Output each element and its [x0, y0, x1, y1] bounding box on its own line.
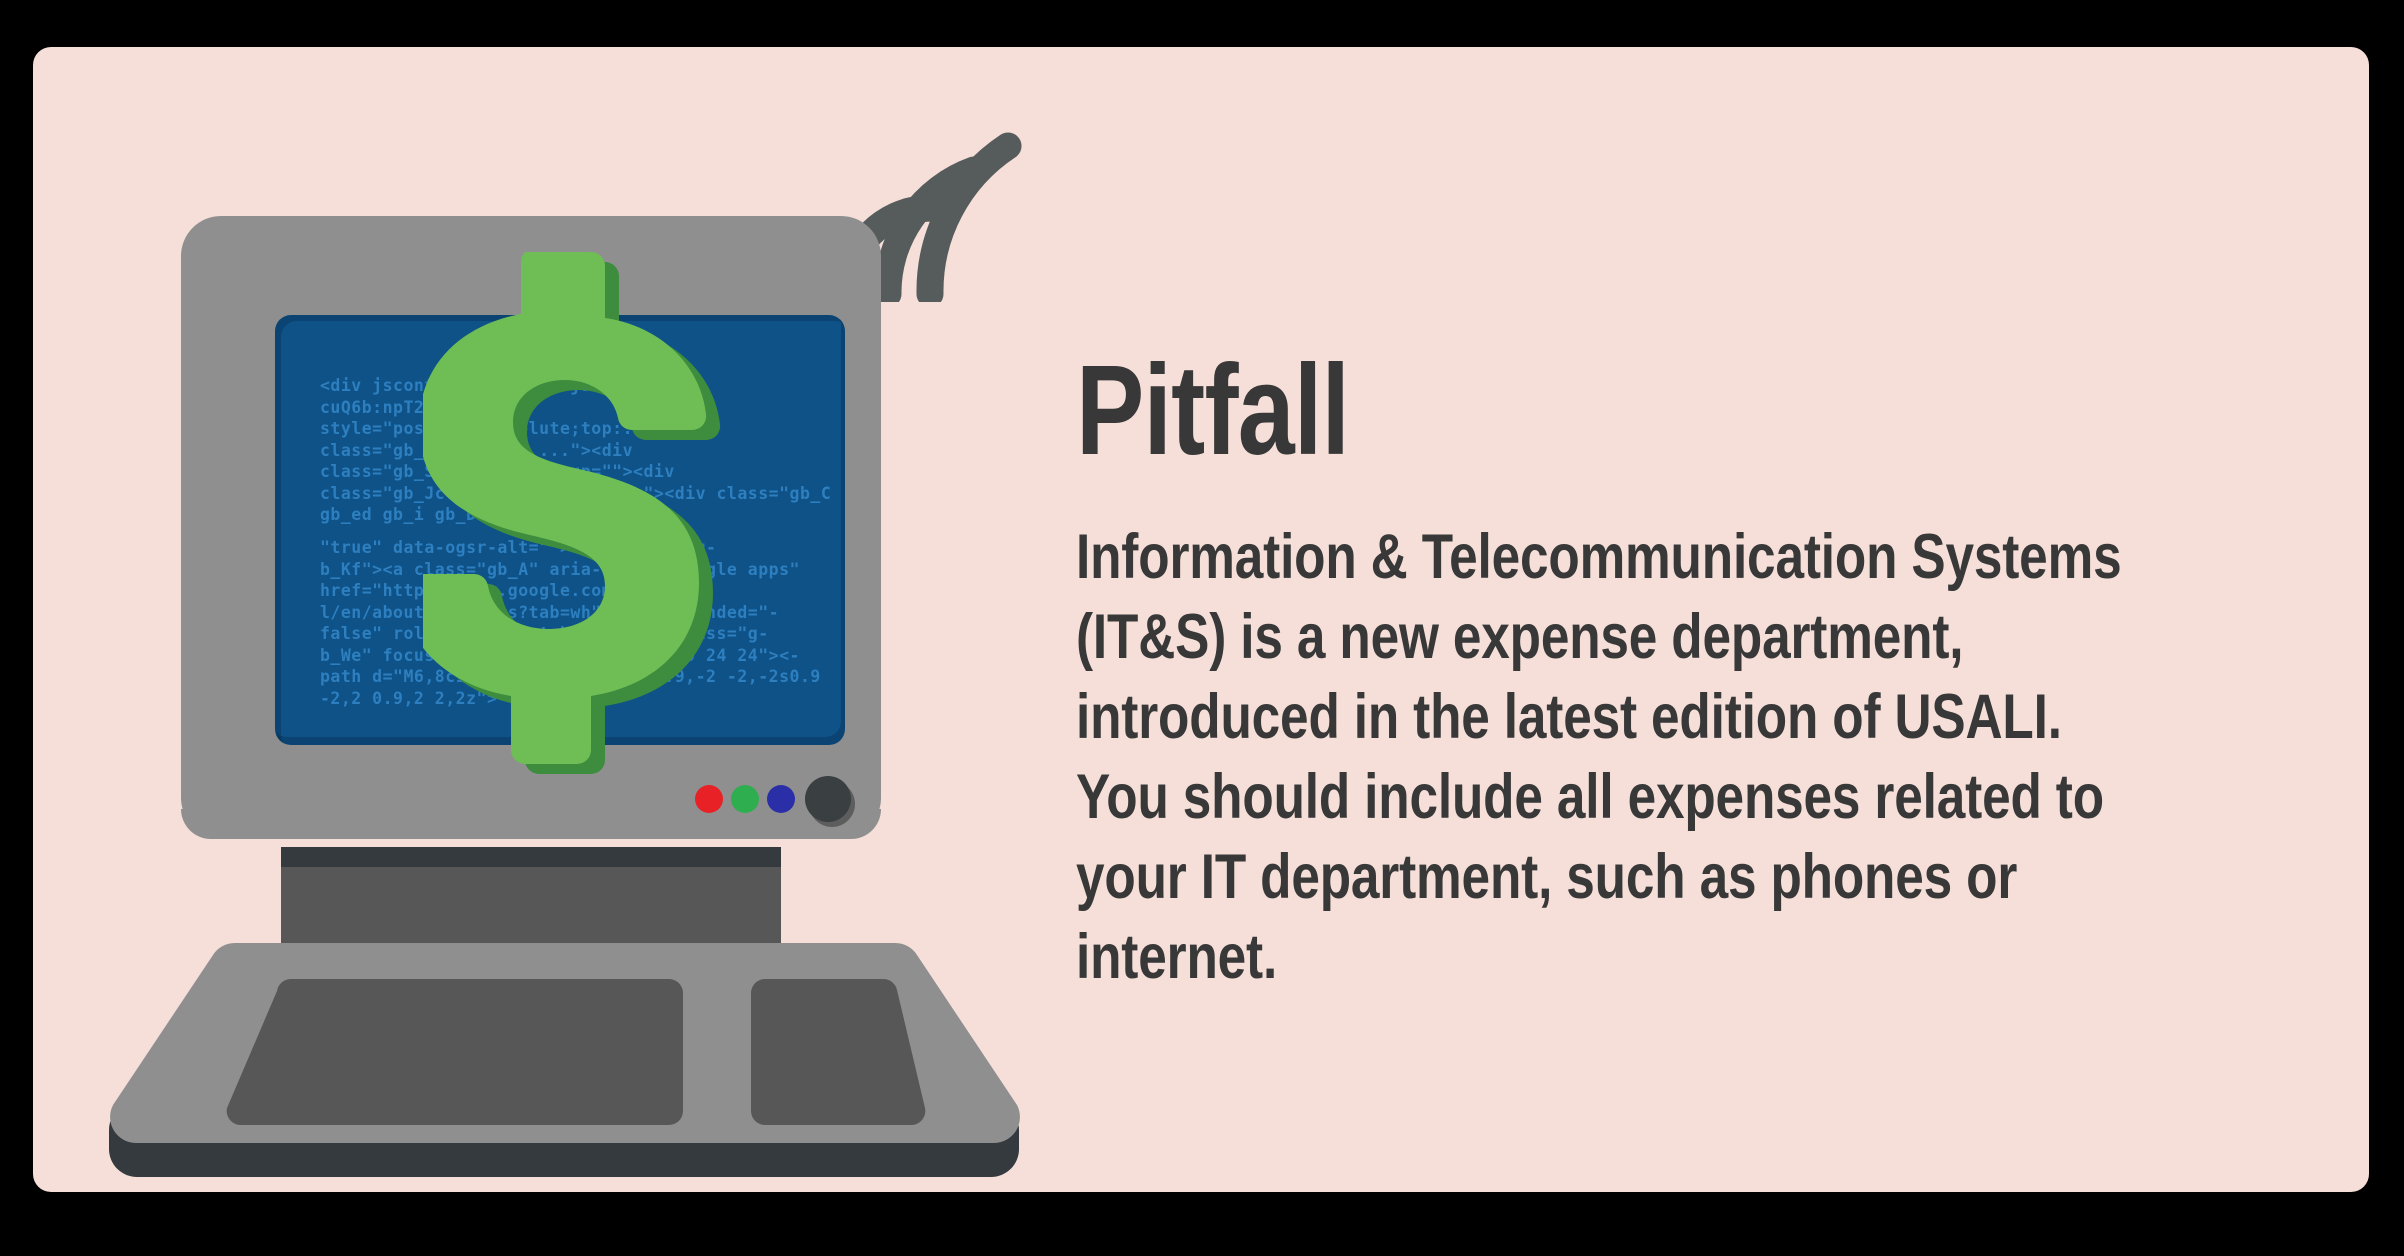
- power-button[interactable]: [805, 776, 851, 822]
- dollar-sign-icon: [423, 252, 723, 852]
- page-title: Pitfall: [1076, 352, 1349, 470]
- body-paragraph: Information & Telecommunication Systems …: [1076, 517, 2127, 997]
- content-card: <div jscontroller="..." jsname="big" cuQ…: [33, 47, 2369, 1192]
- dot-green: [731, 785, 759, 813]
- monitor-neck-shadow: [281, 847, 781, 867]
- dot-red: [695, 785, 723, 813]
- keyboard-base: [105, 937, 1025, 1152]
- slide-canvas: <div jscontroller="..." jsname="big" cuQ…: [0, 0, 2404, 1256]
- trackpad-panel: [751, 979, 925, 1125]
- keyboard-panel: [227, 979, 683, 1125]
- indicator-dot-group: [695, 777, 855, 837]
- text-column: Pitfall Information & Telecommunication …: [1043, 47, 2343, 1192]
- computer-illustration: <div jscontroller="..." jsname="big" cuQ…: [33, 47, 1043, 1192]
- dot-blue: [767, 785, 795, 813]
